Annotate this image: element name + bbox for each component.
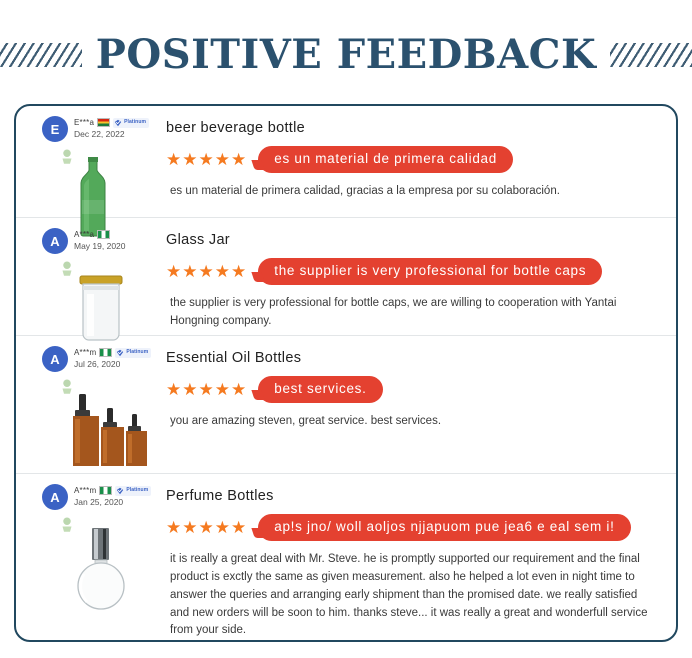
hatch-left-decoration: [0, 43, 82, 67]
product-image-glass-jar: [70, 268, 132, 346]
platinum-badge: Platinum: [113, 118, 149, 128]
reviewer-column: A A***a May 19, 2020: [28, 228, 160, 331]
review-text: es un material de primera calidad, graci…: [166, 183, 656, 201]
star-icon: ★: [215, 519, 230, 536]
star-icon: ★: [231, 381, 246, 398]
page-title: POSITIVE FEEDBACK: [96, 35, 596, 75]
review-row: A A***m Platinum Jul 26, 2020: [16, 336, 676, 474]
reviewer-name: A***m: [74, 349, 96, 357]
hatch-right-decoration: [610, 43, 692, 67]
reviewer-identity: A A***m Platinum Jan 25, 2020: [42, 484, 160, 510]
star-icon: ★: [231, 263, 246, 280]
platinum-badge: Platinum: [115, 348, 151, 358]
star-icon: ★: [199, 263, 214, 280]
diamond-icon: [114, 119, 122, 127]
star-icon: ★: [215, 381, 230, 398]
product-title: Essential Oil Bottles: [166, 350, 656, 366]
star-icon: ★: [166, 151, 181, 168]
review-text: you are amazing steven, great service. b…: [166, 413, 656, 431]
avatar: A: [42, 346, 68, 372]
star-icon: ★: [182, 381, 197, 398]
star-icon: ★: [199, 151, 214, 168]
star-icon: ★: [182, 519, 197, 536]
rating-row: ★ ★ ★ ★ ★ ap!s jno/ woll aoljos njjapuom…: [166, 514, 656, 541]
star-icon: ★: [231, 151, 246, 168]
reviewer-identity: E E***a Platinum Dec 22, 2022: [42, 116, 160, 142]
review-content: Essential Oil Bottles ★ ★ ★ ★ ★ best ser…: [160, 346, 664, 469]
review-content: Glass Jar ★ ★ ★ ★ ★ the supplier is very…: [160, 228, 664, 331]
highlight-bubble: best services.: [258, 376, 382, 403]
highlight-bubble: es un material de primera calidad: [258, 146, 513, 173]
star-icon: ★: [199, 381, 214, 398]
star-icon: ★: [166, 381, 181, 398]
review-row: A A***m Platinum Jan 25, 2020: [16, 474, 676, 642]
platinum-badge-label: Platinum: [124, 120, 146, 125]
review-date: Dec 22, 2022: [74, 130, 149, 139]
star-icon: ★: [182, 263, 197, 280]
diamond-icon: [116, 487, 124, 495]
star-icon: ★: [231, 519, 246, 536]
avatar: A: [42, 484, 68, 510]
review-row: A A***a May 19, 2020: [16, 218, 676, 336]
review-text: the supplier is very professional for bo…: [166, 295, 656, 331]
platinum-badge-label: Platinum: [126, 488, 148, 493]
avatar: A: [42, 228, 68, 254]
star-icon: ★: [215, 151, 230, 168]
product-title: Glass Jar: [166, 232, 656, 248]
star-rating: ★ ★ ★ ★ ★: [166, 263, 246, 280]
avatar: E: [42, 116, 68, 142]
star-rating: ★ ★ ★ ★ ★: [166, 381, 246, 398]
platinum-badge: Platinum: [115, 486, 151, 496]
rating-row: ★ ★ ★ ★ ★ best services.: [166, 376, 656, 403]
product-thumbnail-area: [42, 516, 160, 608]
rating-row: ★ ★ ★ ★ ★ es un material de primera cali…: [166, 146, 656, 173]
star-rating: ★ ★ ★ ★ ★: [166, 151, 246, 168]
review-row: E E***a Platinum Dec 22, 2022: [16, 106, 676, 218]
diamond-icon: [116, 349, 124, 357]
product-thumbnail-area: [42, 378, 160, 470]
product-title: Perfume Bottles: [166, 488, 656, 504]
star-icon: ★: [166, 519, 181, 536]
star-rating: ★ ★ ★ ★ ★: [166, 519, 246, 536]
flag-nigeria-icon: [99, 486, 112, 495]
star-icon: ★: [215, 263, 230, 280]
star-icon: ★: [199, 519, 214, 536]
reviewer-column: A A***m Platinum Jul 26, 2020: [28, 346, 160, 469]
reviewer-column: A A***m Platinum Jan 25, 2020: [28, 484, 160, 638]
review-date: Jan 25, 2020: [74, 498, 151, 507]
review-content: beer beverage bottle ★ ★ ★ ★ ★ es un mat…: [160, 116, 664, 213]
page-header: POSITIVE FEEDBACK: [0, 0, 692, 96]
flag-nigeria-icon: [97, 230, 110, 239]
reviewer-identity: A A***a May 19, 2020: [42, 228, 160, 254]
review-text: it is really a great deal with Mr. Steve…: [166, 551, 656, 640]
product-image-perfume-bottle: [70, 524, 134, 612]
reviewer-identity: A A***m Platinum Jul 26, 2020: [42, 346, 160, 372]
reviewer-name: A***a: [74, 231, 94, 239]
flag-nigeria-icon: [99, 348, 112, 357]
reviewer-name: E***a: [74, 119, 94, 127]
highlight-bubble: ap!s jno/ woll aoljos njjapuom pue jea6 …: [258, 514, 630, 541]
review-date: Jul 26, 2020: [74, 360, 151, 369]
platinum-badge-label: Platinum: [126, 350, 148, 355]
feedback-card: E E***a Platinum Dec 22, 2022: [14, 104, 678, 642]
review-date: May 19, 2020: [74, 242, 126, 251]
review-content: Perfume Bottles ★ ★ ★ ★ ★ ap!s jno/ woll…: [160, 484, 664, 638]
product-title: beer beverage bottle: [166, 120, 656, 136]
reviewer-column: E E***a Platinum Dec 22, 2022: [28, 116, 160, 213]
reviewer-name: A***m: [74, 487, 96, 495]
flag-ghana-icon: [97, 118, 110, 127]
product-image-amber-dropper-bottles: [70, 386, 150, 472]
highlight-bubble: the supplier is very professional for bo…: [258, 258, 602, 285]
rating-row: ★ ★ ★ ★ ★ the supplier is very professio…: [166, 258, 656, 285]
star-icon: ★: [166, 263, 181, 280]
star-icon: ★: [182, 151, 197, 168]
